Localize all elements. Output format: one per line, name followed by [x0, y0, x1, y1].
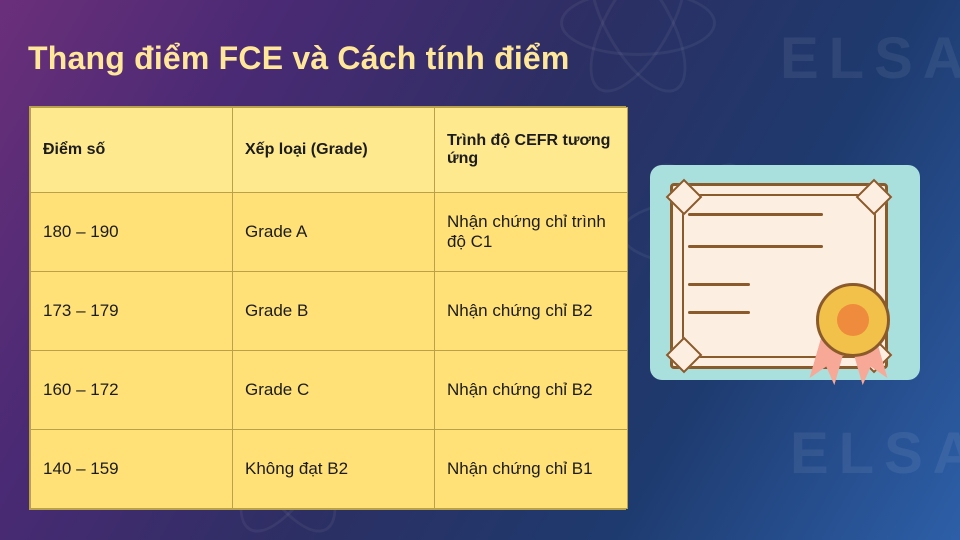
slide: ELSA ELSA Thang điểm FCE và Cách tính đi… — [0, 0, 960, 540]
table-cell-grade: Grade A — [233, 193, 435, 272]
score-table-container: Điểm số Xếp loại (Grade) Trình độ CEFR t… — [29, 106, 626, 510]
certificate-illustration — [650, 165, 940, 415]
award-seal-center — [837, 304, 869, 336]
watermark-brand: ELSA — [790, 420, 960, 487]
table-header-cell: Xếp loại (Grade) — [233, 108, 435, 193]
table-cell-grade: Không đạt B2 — [233, 430, 435, 509]
table-cell-cefr: Nhận chứng chỉ B2 — [435, 272, 628, 351]
score-table: Điểm số Xếp loại (Grade) Trình độ CEFR t… — [30, 107, 628, 509]
certificate-text-line — [688, 311, 750, 314]
table-header-row: Điểm số Xếp loại (Grade) Trình độ CEFR t… — [31, 108, 628, 193]
table-header-cell: Điểm số — [31, 108, 233, 193]
page-title: Thang điểm FCE và Cách tính điểm — [28, 40, 570, 77]
certificate-text-line — [688, 213, 823, 216]
award-seal-icon — [816, 283, 890, 357]
table-cell-score: 160 – 172 — [31, 351, 233, 430]
table-row: 160 – 172 Grade C Nhận chứng chỉ B2 — [31, 351, 628, 430]
certificate-corner-icon — [666, 179, 703, 216]
table-cell-grade: Grade B — [233, 272, 435, 351]
table-row: 140 – 159 Không đạt B2 Nhận chứng chỉ B1 — [31, 430, 628, 509]
table-cell-cefr: Nhận chứng chỉ B2 — [435, 351, 628, 430]
table-cell-cefr: Nhận chứng chỉ trình độ C1 — [435, 193, 628, 272]
watermark-brand: ELSA — [780, 25, 960, 92]
table-header-cell: Trình độ CEFR tương ứng — [435, 108, 628, 193]
certificate-text-line — [688, 245, 823, 248]
table-cell-score: 140 – 159 — [31, 430, 233, 509]
table-cell-score: 173 – 179 — [31, 272, 233, 351]
table-cell-score: 180 – 190 — [31, 193, 233, 272]
table-row: 180 – 190 Grade A Nhận chứng chỉ trình đ… — [31, 193, 628, 272]
certificate-corner-icon — [666, 337, 703, 374]
table-row: 173 – 179 Grade B Nhận chứng chỉ B2 — [31, 272, 628, 351]
certificate-corner-icon — [856, 179, 893, 216]
table-cell-grade: Grade C — [233, 351, 435, 430]
table-cell-cefr: Nhận chứng chỉ B1 — [435, 430, 628, 509]
certificate-text-line — [688, 283, 750, 286]
